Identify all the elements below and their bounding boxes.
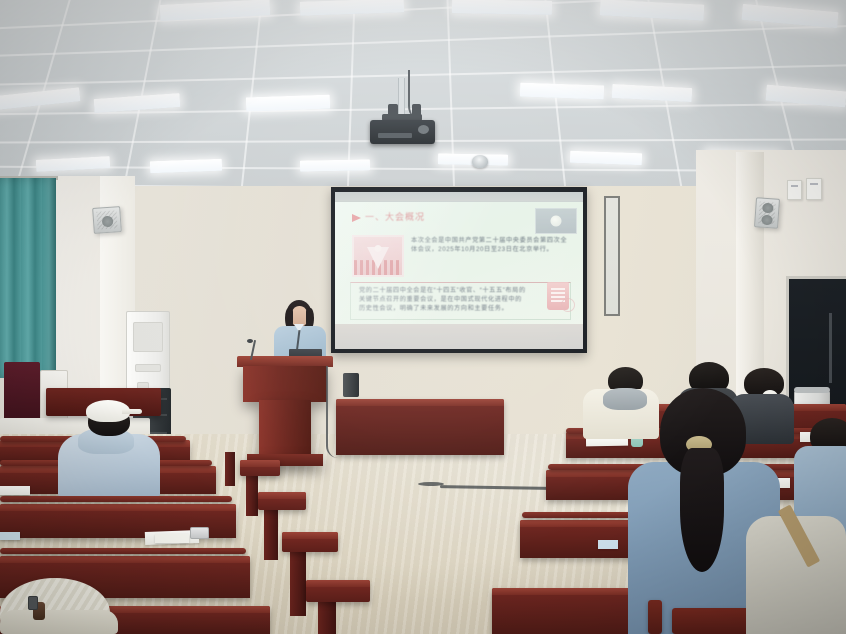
cap-brim xyxy=(122,409,142,414)
front-stage-desk xyxy=(336,399,504,455)
podium[interactable] xyxy=(243,366,327,402)
ceiling-light-panel xyxy=(246,95,330,112)
microphone-head xyxy=(247,339,253,343)
phone-on-desk xyxy=(190,527,209,539)
aisle-desk-end xyxy=(240,460,280,476)
aisle-desk-end xyxy=(306,580,370,602)
papers-on-desk xyxy=(0,486,30,495)
bullet-arrow-icon xyxy=(352,214,361,222)
student-ponytail xyxy=(680,448,724,572)
ceiling-light-panel xyxy=(150,159,222,174)
slide-heading: 一、大会概况 xyxy=(365,210,425,223)
screen-top-strip xyxy=(335,192,583,201)
presentation-slide: 一、大会概况 本次全会是中国共产党第二十届中央委员会第四次全体会议，2025年1… xyxy=(335,202,583,324)
ceiling-light-panel xyxy=(520,83,604,100)
desk-rail xyxy=(0,548,246,554)
podium-column xyxy=(259,400,311,460)
ceiling-light-panel xyxy=(94,93,181,113)
ceiling-light-panel xyxy=(300,159,370,171)
projector-bracket xyxy=(412,104,421,116)
projector-vent xyxy=(378,133,412,138)
great-hall-photo xyxy=(352,235,404,277)
ceiling-light-panel xyxy=(741,4,838,28)
papers-on-desk xyxy=(598,540,618,549)
floor-cable xyxy=(418,482,444,486)
ceiling-light-panel xyxy=(160,0,271,21)
curtain-left[interactable] xyxy=(0,178,56,378)
aisle-desk-end xyxy=(258,492,306,510)
phone-in-hand xyxy=(28,596,38,610)
chair-back xyxy=(648,600,662,634)
slide-paragraph-1: 本次全会是中国共产党第二十届中央委员会第四次全体会议，2025年10月20日至2… xyxy=(411,236,571,254)
ceiling-light-panel xyxy=(0,87,80,111)
ceiling-light-panel xyxy=(300,0,404,16)
projector-lens xyxy=(418,125,429,134)
emblem-globe-icon xyxy=(551,216,562,227)
wall-notice xyxy=(806,178,822,200)
stage-monitor xyxy=(343,373,359,397)
dome-camera-icon xyxy=(472,155,488,168)
speaker-left xyxy=(92,206,122,234)
ceiling-light-panel xyxy=(570,151,642,166)
decorative-ring-icon xyxy=(561,298,575,312)
projector-bracket xyxy=(388,104,398,116)
ceiling-light-panel xyxy=(452,0,552,15)
aisle-desk-end xyxy=(282,532,338,552)
speaker-right xyxy=(754,197,780,229)
desk-rail xyxy=(0,496,232,502)
desk-leg xyxy=(225,452,235,486)
student-right-grey xyxy=(740,498,846,634)
student-knit-hat-body xyxy=(0,610,120,634)
projection-screen[interactable]: 一、大会概况 本次全会是中国共产党第二十届中央委员会第四次全体会议，2025年1… xyxy=(331,187,587,353)
desk-leg xyxy=(246,470,258,516)
conference-emblem xyxy=(535,208,577,234)
lecture-hall-scene: 一、大会概况 本次全会是中国共产党第二十届中央委员会第四次全体会议，2025年1… xyxy=(0,0,846,634)
student-white-cap xyxy=(58,400,168,496)
notebook xyxy=(155,534,189,543)
papers-on-desk xyxy=(0,532,20,540)
ceiling-light-panel xyxy=(612,84,693,102)
ceiling-light-panel xyxy=(600,0,705,21)
product-box xyxy=(4,362,40,420)
wall-notice xyxy=(787,180,802,200)
slide-paragraph-2: 党的二十届四中全会是在“十四五”收官、“十五五”布局的关键节点召开的重要会议，是… xyxy=(359,286,527,313)
ceiling-light-panel xyxy=(36,156,111,172)
whiteboard-edge xyxy=(604,196,620,316)
